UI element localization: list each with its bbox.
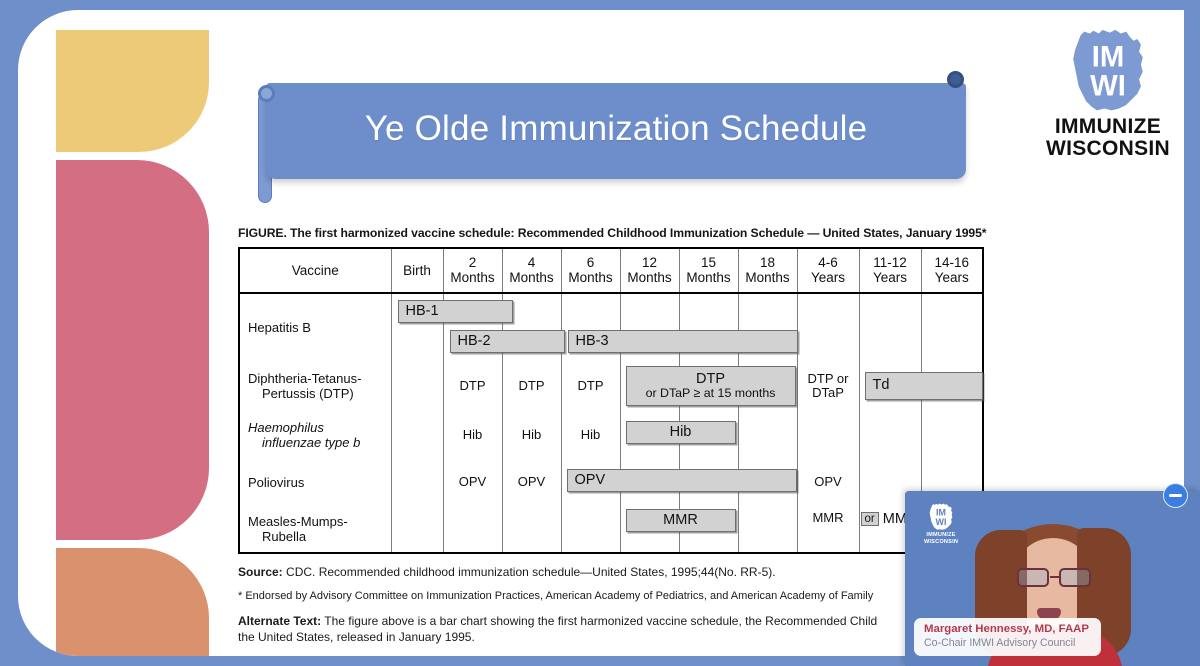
cell-hib-6m: Hib — [561, 411, 620, 459]
svg-text:IM: IM — [936, 508, 946, 518]
bar-hb2: HB-2 — [450, 330, 565, 353]
table-header: Vaccine Birth 2 Months 4 Months 6 — [239, 248, 983, 293]
figure-source-label: Source: — [238, 565, 283, 579]
cell-mmr-46y: MMR — [797, 505, 859, 553]
video-imwi-wordmark: IMMUNIZE WISCONSIN — [915, 532, 967, 546]
bar-opv-label: OPV — [575, 473, 606, 489]
cell-hepb-1416y — [921, 293, 983, 361]
imwi-wordmark: IMMUNIZE WISCONSIN — [1038, 116, 1178, 160]
cell-hib-18m — [738, 411, 797, 459]
cell-hib-2m: Hib — [443, 411, 502, 459]
cell-dtp-4m: DTP — [502, 361, 561, 411]
cell-dtp-2m: DTP — [443, 361, 502, 411]
figure-caption: FIGURE. The first harmonized vaccine sch… — [238, 226, 1023, 240]
speaker-video-overlay[interactable]: IM WI IMMUNIZE WISCONSIN Margaret Hennes… — [905, 491, 1200, 666]
table-row-mmr: Measles-Mumps- Rubella MMR — [239, 505, 983, 553]
svg-text:WI: WI — [1090, 71, 1126, 103]
imwi-wordmark-line1: IMMUNIZE — [1038, 116, 1178, 138]
scroll-curl-left-icon — [258, 85, 275, 102]
imwi-wordmark-line2: WISCONSIN — [1038, 138, 1178, 160]
column-header-12-months: 12 Months — [620, 248, 679, 293]
cell-dtp-12m: DTP or DTaP ≥ at 15 months — [620, 361, 679, 411]
bar-mmr-or: or — [861, 512, 879, 526]
cell-dtp-1112y: Td — [859, 361, 921, 411]
decorative-shape-yellow — [56, 30, 209, 152]
cell-mmr-birth — [391, 505, 443, 553]
wisconsin-state-icon: IM WI — [1062, 28, 1154, 114]
column-header-11-12-years: 11-12 Years — [859, 248, 921, 293]
figure-source: Source: CDC. Recommended childhood immun… — [238, 564, 938, 580]
cell-hib-1416y — [921, 411, 983, 459]
bar-hib: Hib — [626, 421, 736, 444]
cell-hib-4m: Hib — [502, 411, 561, 459]
minus-icon — [1169, 494, 1182, 496]
table-row-hib: Haemophilus influenzae type b Hib Hib Hi… — [239, 411, 983, 459]
column-header-4-6-years: 4-6 Years — [797, 248, 859, 293]
svg-text:WI: WI — [936, 517, 947, 527]
bar-hb3-label: HB-3 — [576, 334, 609, 350]
scroll-curl-right-icon — [947, 71, 964, 88]
column-header-15-months: 15 Months — [679, 248, 738, 293]
cell-dtp-46y: DTP or DTaP — [797, 361, 859, 411]
decorative-shape-orange — [56, 548, 209, 656]
bar-hb1: HB-1 — [398, 300, 513, 323]
bar-mmr: MMR — [626, 509, 736, 532]
decorative-shape-pink — [56, 160, 209, 540]
svg-text:IM: IM — [1092, 41, 1125, 73]
page-title: Ye Olde Immunization Schedule — [365, 109, 868, 153]
bar-td-label: Td — [873, 378, 890, 394]
table-body: Hepatitis B HB-1 HB-2 — [239, 293, 983, 553]
bar-hb2-label: HB-2 — [458, 334, 491, 350]
bar-hb3: HB-3 — [568, 330, 798, 353]
cell-hepb-1112y — [859, 293, 921, 361]
wisconsin-state-icon-small: IM WI — [926, 503, 956, 531]
figure-alt-text: Alternate Text: The figure above is a ba… — [238, 613, 938, 645]
bar-dtp-sublabel: or DTaP ≥ at 15 months — [646, 387, 776, 400]
bar-hib-label: Hib — [670, 425, 692, 441]
column-header-2-months: 2 Months — [443, 248, 502, 293]
cell-mmr-6m — [561, 505, 620, 553]
cell-dtp-birth — [391, 361, 443, 411]
cell-hepb-birth: HB-1 — [391, 293, 443, 361]
bar-mmr-label: MMR — [663, 513, 698, 529]
table-row-hepatitis-b: Hepatitis B HB-1 HB-2 — [239, 293, 983, 361]
row-label-dtp: Diphtheria-Tetanus- Pertussis (DTP) — [239, 361, 391, 411]
figure-alt-line1: The figure above is a bar chart showing … — [321, 614, 877, 628]
row-label-hepatitis-b: Hepatitis B — [239, 293, 391, 361]
cell-polio-birth — [391, 459, 443, 505]
glasses-left-lens — [1017, 568, 1049, 587]
cell-hib-46y — [797, 411, 859, 459]
cell-hib-1112y — [859, 411, 921, 459]
cell-hepb-46y — [797, 293, 859, 361]
figure-alt-label: Alternate Text: — [238, 614, 321, 628]
cell-mmr-12m: MMR — [620, 505, 679, 553]
cell-mmr-18m — [738, 505, 797, 553]
column-header-6-months: 6 Months — [561, 248, 620, 293]
glasses-icon — [1015, 568, 1093, 588]
bar-opv: OPV — [567, 469, 797, 492]
row-label-mmr: Measles-Mumps- Rubella — [239, 505, 391, 553]
cell-hib-12m: Hib — [620, 411, 679, 459]
banner-body: Ye Olde Immunization Schedule — [266, 83, 966, 179]
table-row-poliovirus: Poliovirus OPV OPV OPV OPV — [239, 459, 983, 505]
row-label-hib: Haemophilus influenzae type b — [239, 411, 391, 459]
cell-dtp-6m: DTP — [561, 361, 620, 411]
table-row-dtp: Diphtheria-Tetanus- Pertussis (DTP) DTP … — [239, 361, 983, 411]
bar-dtp-dtap: DTP or DTaP ≥ at 15 months — [626, 366, 796, 406]
cell-mmr-2m — [443, 505, 502, 553]
cell-polio-46y: OPV — [797, 459, 859, 505]
imwi-logo: IM WI IMMUNIZE WISCONSIN — [1038, 28, 1178, 160]
figure-footnote: * Endorsed by Advisory Committee on Immu… — [238, 589, 938, 604]
bar-td: Td — [865, 372, 983, 400]
figure-source-text: CDC. Recommended childhood immunization … — [283, 565, 776, 579]
bar-dtp-label: DTP — [696, 372, 725, 388]
speaker-role: Co-Chair IMWI Advisory Council — [924, 637, 1089, 650]
column-header-18-months: 18 Months — [738, 248, 797, 293]
column-header-14-16-years: 14-16 Years — [921, 248, 983, 293]
cell-polio-2m: OPV — [443, 459, 502, 505]
figure-notes: Source: CDC. Recommended childhood immun… — [238, 564, 938, 645]
speaker-name: Margaret Hennessy, MD, FAAP — [924, 623, 1089, 637]
title-banner: Ye Olde Immunization Schedule — [256, 83, 966, 185]
column-header-birth: Birth — [391, 248, 443, 293]
bar-hb1-label: HB-1 — [406, 304, 439, 320]
glasses-bridge — [1050, 576, 1059, 578]
speaker-name-plate: Margaret Hennessy, MD, FAAP Co-Chair IMW… — [914, 618, 1101, 656]
column-header-4-months: 4 Months — [502, 248, 561, 293]
video-imwi-logo: IM WI IMMUNIZE WISCONSIN — [915, 503, 967, 546]
immunization-schedule-table: Vaccine Birth 2 Months 4 Months 6 — [238, 247, 984, 554]
glasses-right-lens — [1059, 568, 1091, 587]
row-label-poliovirus: Poliovirus — [239, 459, 391, 505]
cell-polio-4m: OPV — [502, 459, 561, 505]
minimize-video-button[interactable] — [1163, 483, 1188, 508]
column-header-vaccine: Vaccine — [239, 248, 391, 293]
cell-mmr-4m — [502, 505, 561, 553]
column-header-vaccine-label: Vaccine — [242, 263, 389, 278]
cell-polio-6m: OPV — [561, 459, 620, 505]
table-header-row: Vaccine Birth 2 Months 4 Months 6 — [239, 248, 983, 293]
column-header-birth-label: Birth — [394, 263, 441, 278]
figure-alt-line2: the United States, released in January 1… — [238, 630, 475, 644]
cell-hib-birth — [391, 411, 443, 459]
cell-hepb-6m: HB-3 — [561, 293, 620, 361]
